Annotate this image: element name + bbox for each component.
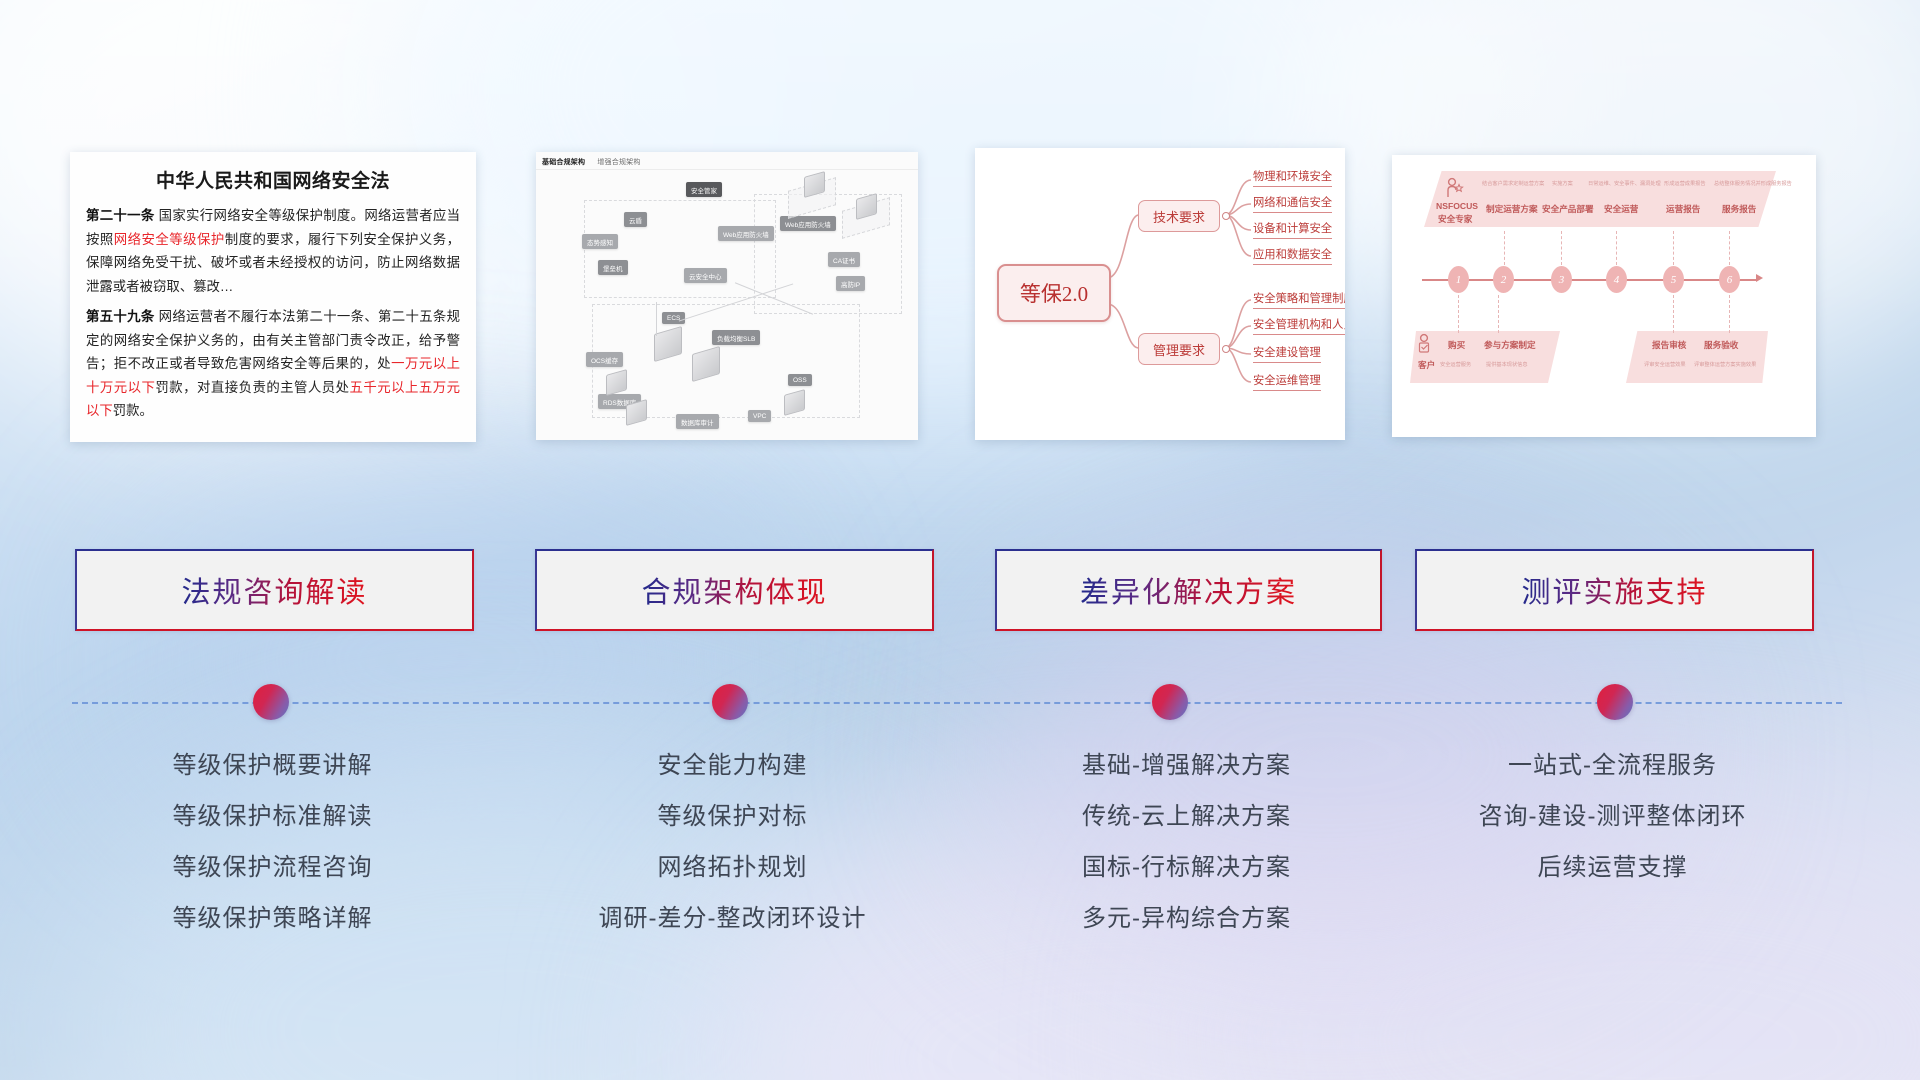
list-item: 等级保护策略详解 xyxy=(75,893,470,944)
section-lists: 等级保护概要讲解 等级保护标准解读 等级保护流程咨询 等级保护策略详解 安全能力… xyxy=(0,740,1920,1000)
list-item: 多元-异构综合方案 xyxy=(995,893,1378,944)
section-list-4: 一站式-全流程服务 咨询-建设-测评整体闭环 后续运营支撑 xyxy=(1415,740,1810,893)
section-list-2: 安全能力构建 等级保护对标 网络拓扑规划 调研-差分-整改闭环设计 xyxy=(535,740,930,944)
timeline-dot-4[interactable] xyxy=(1597,684,1633,720)
list-item: 咨询-建设-测评整体闭环 xyxy=(1415,791,1810,842)
section-title-box-2[interactable]: 合规架构体现 xyxy=(535,549,934,631)
section-title-label-1: 法规咨询解读 xyxy=(181,569,367,611)
list-item: 传统-云上解决方案 xyxy=(995,791,1378,842)
section-list-1: 等级保护概要讲解 等级保护标准解读 等级保护流程咨询 等级保护策略详解 xyxy=(75,740,470,944)
list-item: 一站式-全流程服务 xyxy=(1415,740,1810,791)
list-item: 后续运营支撑 xyxy=(1415,842,1810,893)
section-title-box-1[interactable]: 法规咨询解读 xyxy=(75,549,474,631)
list-item: 等级保护概要讲解 xyxy=(75,740,470,791)
timeline-dot-2[interactable] xyxy=(712,684,748,720)
list-item: 等级保护对标 xyxy=(535,791,930,842)
section-title-label-4: 测评实施支持 xyxy=(1521,569,1707,611)
timeline-dot-1[interactable] xyxy=(253,684,289,720)
section-title-box-3[interactable]: 差异化解决方案 xyxy=(995,549,1382,631)
list-item: 等级保护流程咨询 xyxy=(75,842,470,893)
list-item: 调研-差分-整改闭环设计 xyxy=(535,893,930,944)
section-title-label-2: 合规架构体现 xyxy=(641,569,827,611)
list-item: 等级保护标准解读 xyxy=(75,791,470,842)
list-item: 国标-行标解决方案 xyxy=(995,842,1378,893)
list-item: 安全能力构建 xyxy=(535,740,930,791)
list-item: 网络拓扑规划 xyxy=(535,842,930,893)
section-title-label-3: 差异化解决方案 xyxy=(1080,569,1297,611)
timeline xyxy=(0,684,1920,724)
timeline-dashed-line xyxy=(72,702,1842,704)
section-list-3: 基础-增强解决方案 传统-云上解决方案 国标-行标解决方案 多元-异构综合方案 xyxy=(995,740,1378,944)
section-title-box-4[interactable]: 测评实施支持 xyxy=(1415,549,1814,631)
timeline-dot-3[interactable] xyxy=(1152,684,1188,720)
list-item: 基础-增强解决方案 xyxy=(995,740,1378,791)
